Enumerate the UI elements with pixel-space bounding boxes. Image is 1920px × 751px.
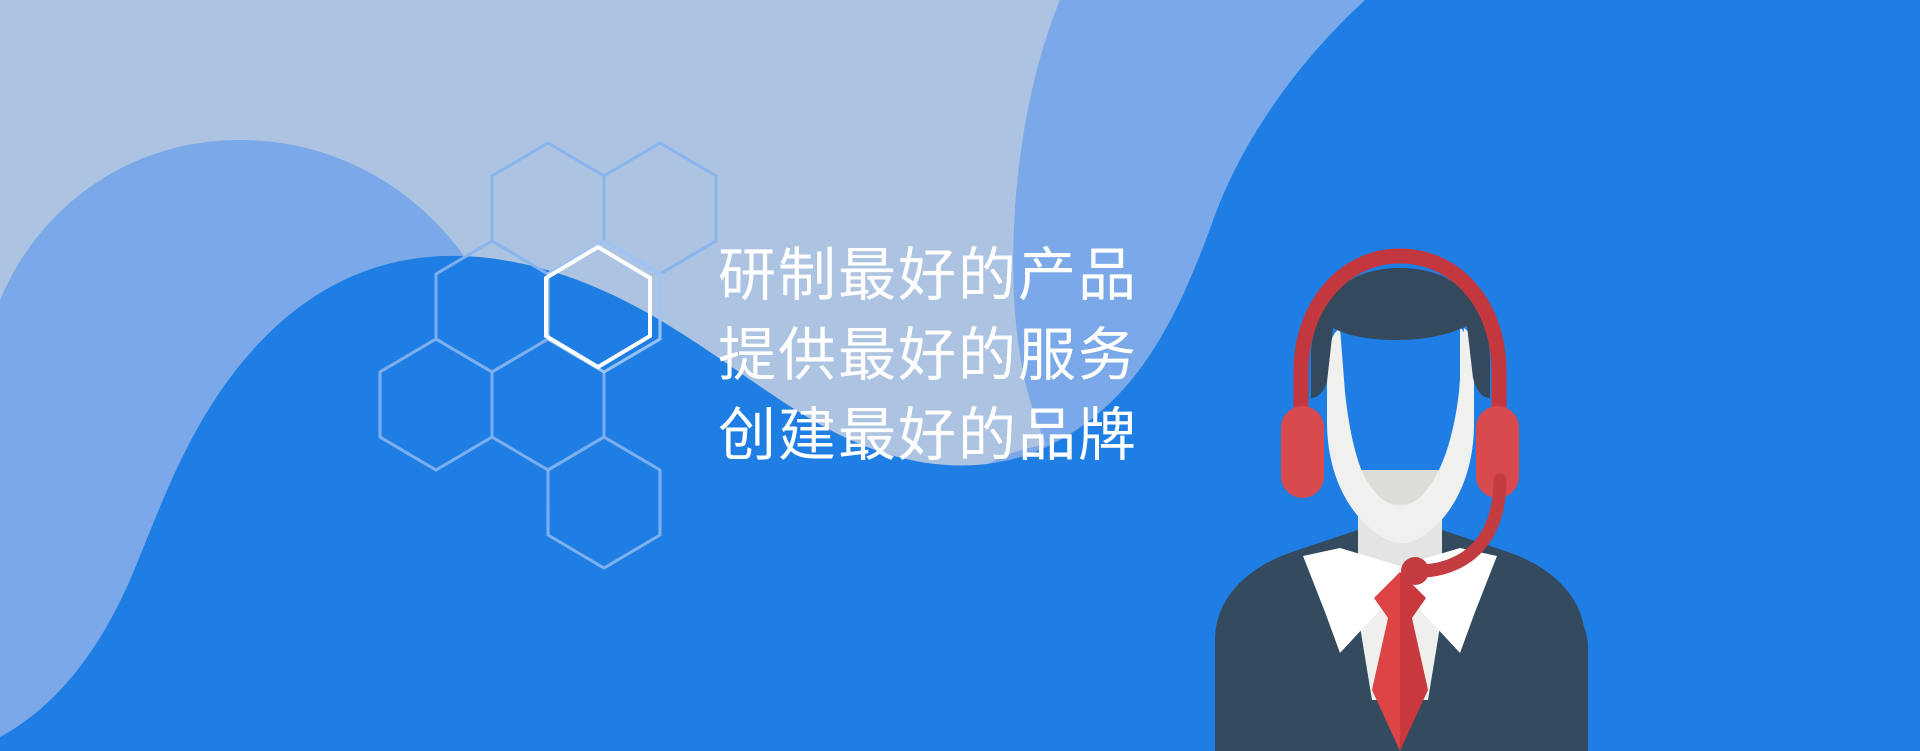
mic-tip <box>1401 557 1429 585</box>
promo-banner: 研制最好的产品 提供最好的服务 创建最好的品牌 <box>0 0 1920 751</box>
headline-line-1: 研制最好的产品 <box>718 236 1358 316</box>
headline-line-2: 提供最好的服务 <box>718 316 1358 396</box>
headline: 研制最好的产品 提供最好的服务 创建最好的品牌 <box>718 236 1358 476</box>
headline-line-3: 创建最好的品牌 <box>718 396 1358 476</box>
